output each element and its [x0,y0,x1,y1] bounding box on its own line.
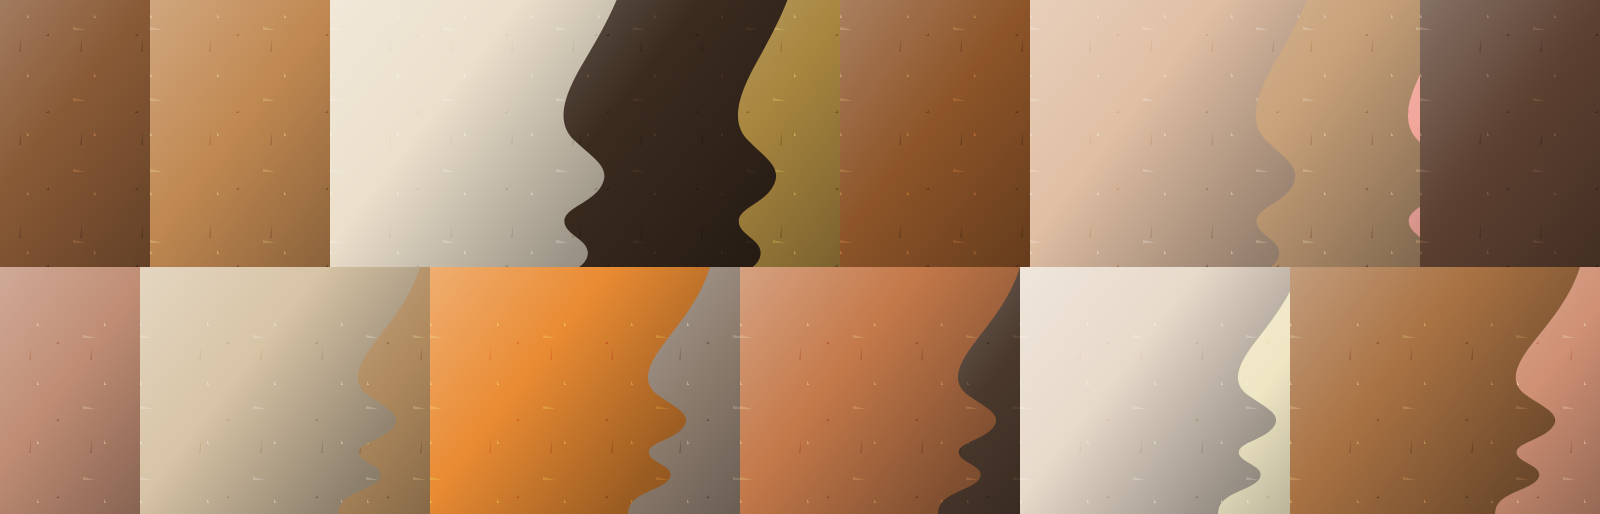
diversity-inclusion-banner: CREST CARES Crest Lincoln believes in di… [0,0,1600,514]
face-profile-lower-2 [140,267,420,514]
paper-faces-background [0,0,1600,514]
face-profile-lower-10 [1290,267,1580,514]
face-shading [740,267,1020,514]
face-profile-lower-6 [740,267,1020,514]
face-shading [1290,267,1580,514]
face-shading [140,267,420,514]
face-profile-lower-8 [1020,267,1300,514]
face-profile-lower-4 [430,267,710,514]
face-shading [430,267,710,514]
face-shading [1020,267,1300,514]
